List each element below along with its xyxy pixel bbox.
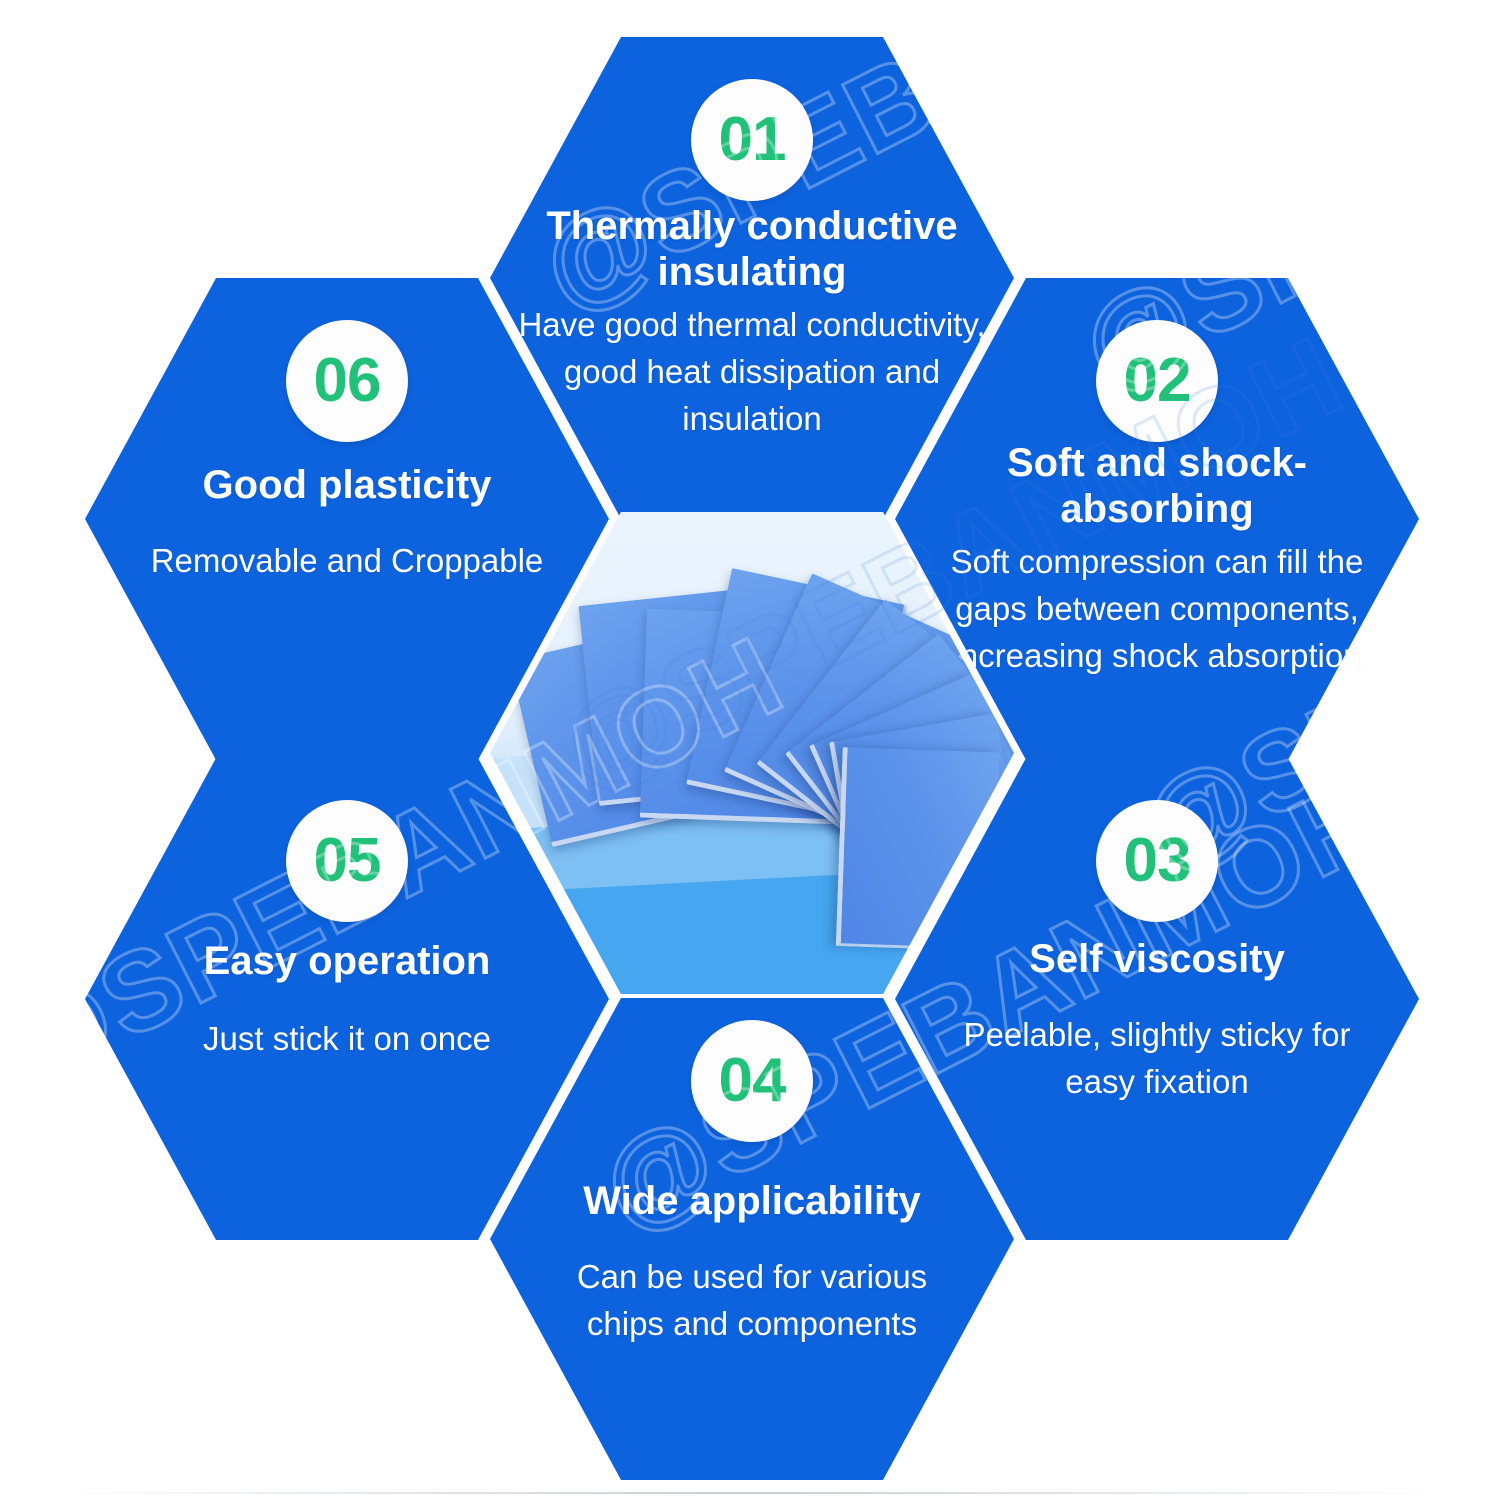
feature-number-03: 03 bbox=[1124, 830, 1191, 892]
feature-number-06: 06 bbox=[314, 350, 381, 412]
feature-badge-01: 01 bbox=[691, 79, 813, 201]
feature-badge-03: 03 bbox=[1096, 800, 1218, 922]
bottom-divider bbox=[50, 1492, 1450, 1494]
feature-number-04: 04 bbox=[719, 1050, 786, 1112]
infographic-canvas: 06 Good plasticity Removable and Croppab… bbox=[0, 0, 1500, 1500]
feature-badge-04: 04 bbox=[691, 1020, 813, 1142]
feature-number-05: 05 bbox=[314, 830, 381, 892]
feature-badge-06: 06 bbox=[286, 320, 408, 442]
feature-number-02: 02 bbox=[1124, 350, 1191, 412]
feature-number-01: 01 bbox=[719, 109, 786, 171]
feature-badge-02: 02 bbox=[1096, 320, 1218, 442]
feature-badge-05: 05 bbox=[286, 800, 408, 922]
